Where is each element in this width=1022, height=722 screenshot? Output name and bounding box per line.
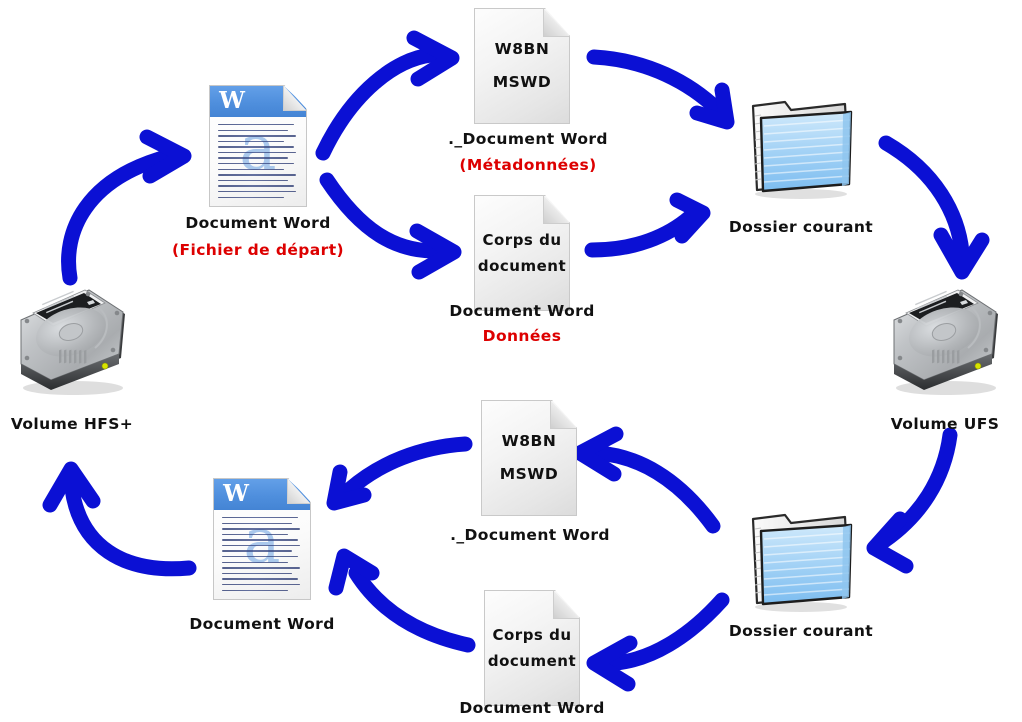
page-line-2: MSWD: [493, 74, 552, 91]
arrow-word-top-to-data-top: [327, 180, 454, 272]
metadata-page-icon-bottom[interactable]: W8BN MSWD: [481, 400, 577, 516]
arrow-meta-top-to-folder-top: [594, 57, 727, 122]
arrow-word-bottom-to-disk-left: [50, 469, 189, 569]
page-line-1: W8BN: [495, 41, 550, 58]
hard-disk-icon-hfs[interactable]: [13, 284, 131, 396]
metadata-page-label-top: ._Document Word: [448, 130, 608, 148]
arrow-folder-top-to-disk-right: [886, 143, 982, 272]
hard-disk-label-hfs: Volume HFS+: [11, 415, 133, 433]
word-document-sublabel-top: (Fichier de départ): [172, 241, 344, 259]
page-line-1: Corps du: [492, 627, 571, 644]
page-line-2: document: [478, 258, 566, 275]
word-document-icon-top[interactable]: a W: [209, 85, 307, 207]
arrow-folder-bottom-to-meta-bottom: [580, 434, 713, 526]
folder-icon-bottom[interactable]: [737, 505, 863, 613]
arrow-disk-left-to-word-top: [69, 137, 184, 278]
arrow-folder-bottom-to-data-bottom: [594, 600, 722, 684]
diagram-canvas: .ar{fill:none;stroke:#0b10d4;stroke-widt…: [0, 0, 1022, 722]
data-page-icon-bottom[interactable]: Corps du document: [484, 590, 580, 706]
arrow-data-bottom-to-word-bottom: [336, 556, 468, 645]
word-document-label-top: Document Word: [185, 214, 330, 232]
folder-icon-top[interactable]: [737, 92, 863, 200]
data-page-label-top: Document Word: [449, 302, 594, 320]
page-line-2: MSWD: [500, 466, 559, 483]
hard-disk-label-ufs: Volume UFS: [891, 415, 1000, 433]
metadata-page-label-bottom: ._Document Word: [450, 526, 610, 544]
folder-label-bottom: Dossier courant: [729, 622, 873, 640]
hard-disk-icon-ufs[interactable]: [886, 284, 1004, 396]
folder-label-top: Dossier courant: [729, 218, 873, 236]
word-document-label-bottom: Document Word: [189, 615, 334, 633]
arrow-disk-right-to-folder-bottom: [874, 435, 950, 566]
text-lines-icon: [222, 517, 301, 591]
word-document-icon-bottom[interactable]: a W: [213, 478, 311, 600]
data-page-label-bottom: Document Word: [459, 699, 604, 717]
word-w-logo-icon: W: [219, 90, 245, 112]
data-page-icon-top[interactable]: Corps du document: [474, 195, 570, 311]
arrow-word-top-to-meta-top: [323, 38, 452, 153]
text-lines-icon: [218, 124, 297, 198]
arrow-data-top-to-folder-top: [592, 200, 703, 250]
metadata-page-sublabel-top: (Métadonnées): [459, 156, 596, 174]
data-page-sublabel-top: Données: [483, 327, 562, 345]
page-line-1: Corps du: [482, 232, 561, 249]
metadata-page-icon-top[interactable]: W8BN MSWD: [474, 8, 570, 124]
page-line-1: W8BN: [502, 433, 557, 450]
page-line-2: document: [488, 653, 576, 670]
word-w-logo-icon: W: [223, 483, 249, 505]
arrow-meta-bottom-to-word-bottom: [334, 444, 465, 503]
